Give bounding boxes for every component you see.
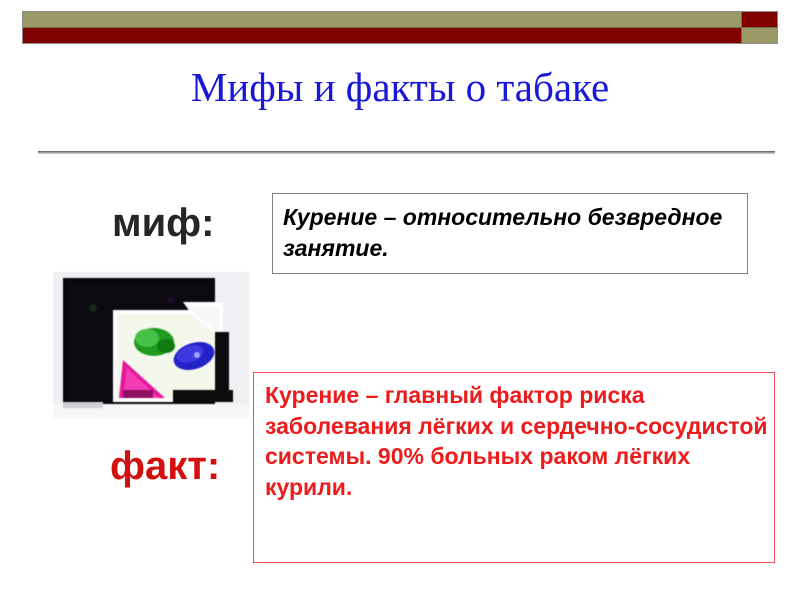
fact-label: факт: — [110, 446, 220, 486]
broken-image-placeholder — [53, 272, 249, 418]
banner-band-maroon-long — [23, 28, 741, 43]
banner-band-maroon-short — [741, 12, 777, 27]
decorative-banner — [22, 11, 778, 44]
banner-band-olive-long — [23, 12, 741, 27]
title-divider — [38, 151, 775, 154]
page-title: Мифы и факты о табаке — [0, 66, 800, 109]
banner-row-top — [23, 12, 777, 28]
fact-statement: Курение – главный фактор риска заболеван… — [265, 380, 768, 502]
banner-row-bottom — [23, 28, 777, 43]
myth-textbox: Курение – относительно безвредное заняти… — [272, 193, 748, 274]
fact-textbox: Курение – главный фактор риска заболеван… — [253, 372, 775, 563]
broken-image-icon — [53, 272, 249, 418]
banner-band-olive-short — [741, 28, 777, 43]
myth-label: миф: — [112, 203, 215, 243]
myth-statement: Курение – относительно безвредное заняти… — [283, 202, 743, 263]
